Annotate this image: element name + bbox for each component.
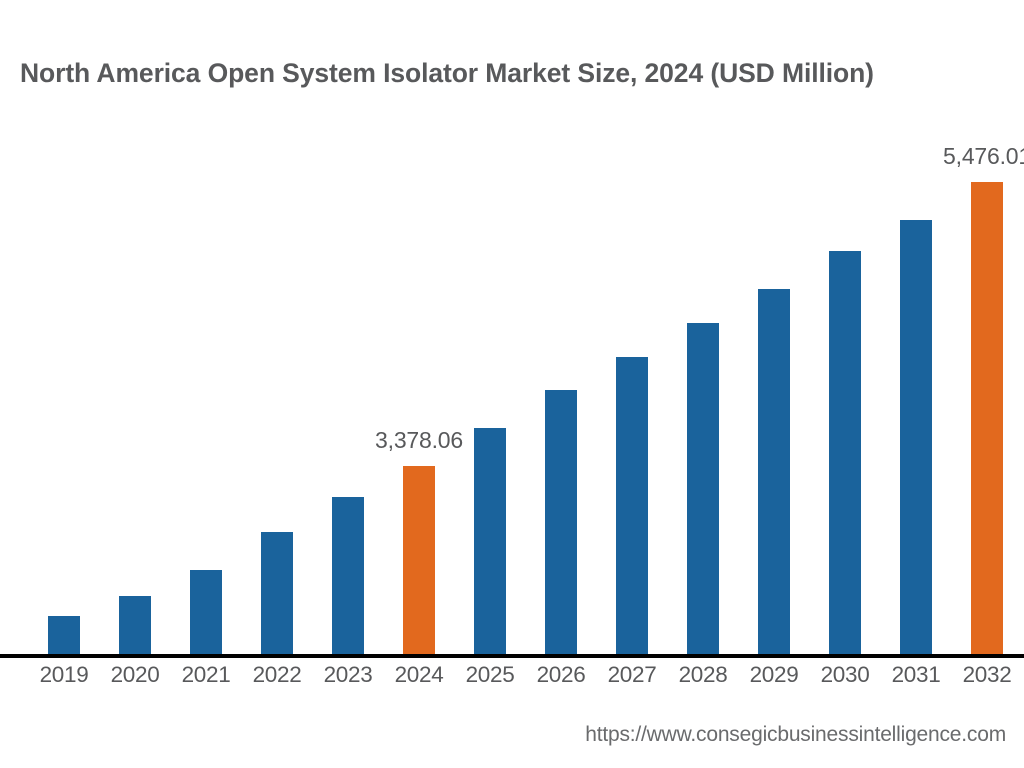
bar-2024[interactable] bbox=[403, 466, 435, 656]
bar-slot-2020 bbox=[100, 120, 171, 656]
bar-slot-2032: 5,476.01 bbox=[952, 120, 1023, 656]
plot-area: 3,378.065,476.01 bbox=[0, 120, 1024, 656]
bar-2027[interactable] bbox=[616, 357, 648, 656]
x-axis-tick-2030: 2030 bbox=[810, 662, 881, 688]
bar-2025[interactable] bbox=[474, 428, 506, 656]
bar-chart-figure: North America Open System Isolator Marke… bbox=[0, 0, 1024, 768]
x-axis-tick-2023: 2023 bbox=[313, 662, 384, 688]
bar-slot-2029 bbox=[739, 120, 810, 656]
bar-slot-2022 bbox=[242, 120, 313, 656]
x-axis-tick-2019: 2019 bbox=[29, 662, 100, 688]
bar-2023[interactable] bbox=[332, 497, 364, 656]
x-axis-tick-2028: 2028 bbox=[668, 662, 739, 688]
bar-2028[interactable] bbox=[687, 323, 719, 656]
x-axis-tick-2026: 2026 bbox=[526, 662, 597, 688]
bar-2022[interactable] bbox=[261, 532, 293, 656]
bar-2031[interactable] bbox=[900, 220, 932, 656]
x-axis-tick-labels: 2019202020212022202320242025202620272028… bbox=[0, 662, 1024, 702]
source-url-text: https://www.consegicbusinessintelligence… bbox=[585, 723, 1006, 747]
bar-slot-2028 bbox=[668, 120, 739, 656]
bar-2021[interactable] bbox=[190, 570, 222, 656]
bar-slot-2025 bbox=[455, 120, 526, 656]
bar-2019[interactable] bbox=[48, 616, 80, 656]
bar-slot-2021 bbox=[171, 120, 242, 656]
x-axis-tick-2032: 2032 bbox=[952, 662, 1023, 688]
bar-slot-2030 bbox=[810, 120, 881, 656]
bar-value-label-2024: 3,378.06 bbox=[375, 427, 463, 454]
bar-value-label-2032: 5,476.01 bbox=[943, 143, 1024, 170]
x-axis-tick-2021: 2021 bbox=[171, 662, 242, 688]
bar-2029[interactable] bbox=[758, 289, 790, 656]
x-axis-tick-2024: 2024 bbox=[384, 662, 455, 688]
x-axis-line bbox=[0, 654, 1024, 658]
x-axis-tick-2020: 2020 bbox=[100, 662, 171, 688]
x-axis-tick-2029: 2029 bbox=[739, 662, 810, 688]
x-axis-tick-2027: 2027 bbox=[597, 662, 668, 688]
bar-2020[interactable] bbox=[119, 596, 151, 656]
bar-slot-2023 bbox=[313, 120, 384, 656]
x-axis-tick-2025: 2025 bbox=[455, 662, 526, 688]
chart-title: North America Open System Isolator Marke… bbox=[20, 58, 1014, 90]
bar-slot-2024: 3,378.06 bbox=[384, 120, 455, 656]
bar-2026[interactable] bbox=[545, 390, 577, 656]
bar-slot-2019 bbox=[29, 120, 100, 656]
bar-slot-2031 bbox=[881, 120, 952, 656]
bar-slot-2027 bbox=[597, 120, 668, 656]
x-axis-tick-2031: 2031 bbox=[881, 662, 952, 688]
bar-slot-2026 bbox=[526, 120, 597, 656]
x-axis-tick-2022: 2022 bbox=[242, 662, 313, 688]
bar-2030[interactable] bbox=[829, 251, 861, 656]
bar-2032[interactable] bbox=[971, 182, 1003, 656]
